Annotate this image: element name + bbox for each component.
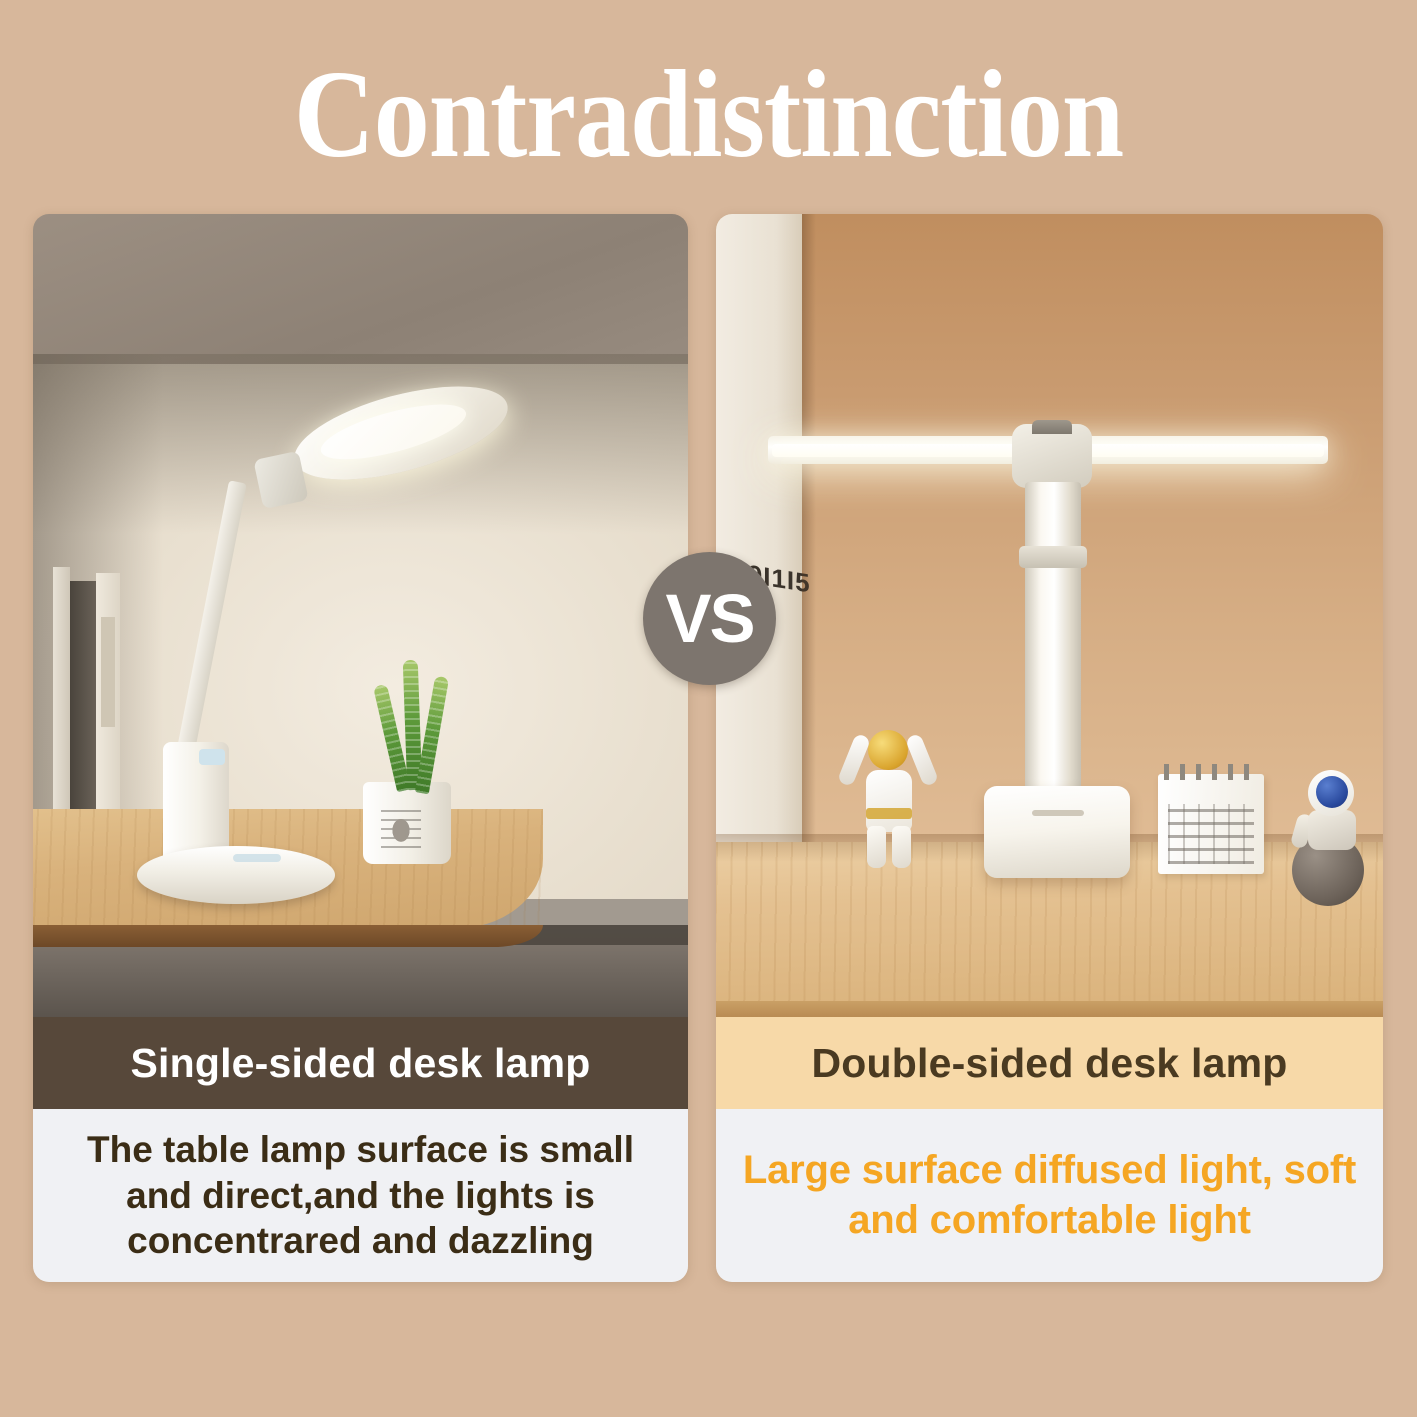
astronaut-gold-visor xyxy=(868,730,908,770)
astronaut-blue-body xyxy=(1308,810,1356,850)
lamp-base-label xyxy=(233,854,281,862)
page-title: Contradistinction xyxy=(0,52,1417,177)
desk-edge xyxy=(33,925,543,947)
book-spine-dark xyxy=(70,581,96,819)
astronaut-blue-visor xyxy=(1316,776,1348,808)
desk-edge xyxy=(716,1001,1383,1017)
lamp-hinge xyxy=(253,451,308,509)
book-spine-light-1 xyxy=(53,567,70,817)
caption-single-sided: Single-sided desk lamp xyxy=(33,1017,688,1109)
astronaut-gold-leg-left xyxy=(867,826,886,868)
photo-single-sided-desk-lamp xyxy=(33,214,688,1017)
comparison-panel-double-sided: C9I1I5 Double-sided desk lamp La xyxy=(716,214,1383,1282)
photo-double-sided-desk-lamp: C9I1I5 xyxy=(716,214,1383,1017)
description-double-sided: Large surface diffused light, soft and c… xyxy=(716,1109,1383,1282)
lamp-base xyxy=(984,786,1130,878)
lamp-hub-cap xyxy=(1032,420,1072,434)
vs-label: VS xyxy=(665,584,753,653)
lamp-post-joint xyxy=(1019,546,1087,568)
lamp-touch-button xyxy=(199,749,225,765)
caption-double-sided: Double-sided desk lamp xyxy=(716,1017,1383,1109)
plant-pot-decal xyxy=(381,804,421,848)
description-single-sided: The table lamp surface is small and dire… xyxy=(33,1109,688,1282)
wall-corner-shadow xyxy=(802,214,816,874)
lamp-base-slot xyxy=(1032,810,1084,816)
astronaut-gold-body xyxy=(866,770,912,832)
desk-calendar-grid xyxy=(1168,804,1254,864)
lamp-post xyxy=(1025,482,1081,800)
astronaut-gold-belt xyxy=(866,808,912,819)
comparison-infographic: { "header": { "title": "Contradistinctio… xyxy=(0,0,1417,1417)
book-cover-panel xyxy=(101,617,115,727)
vs-badge: VS xyxy=(643,552,776,685)
astronaut-gold-leg-right xyxy=(892,826,911,868)
comparison-panel-single-sided: Single-sided desk lamp The table lamp su… xyxy=(33,214,688,1282)
desk-calendar-rings xyxy=(1164,764,1260,780)
